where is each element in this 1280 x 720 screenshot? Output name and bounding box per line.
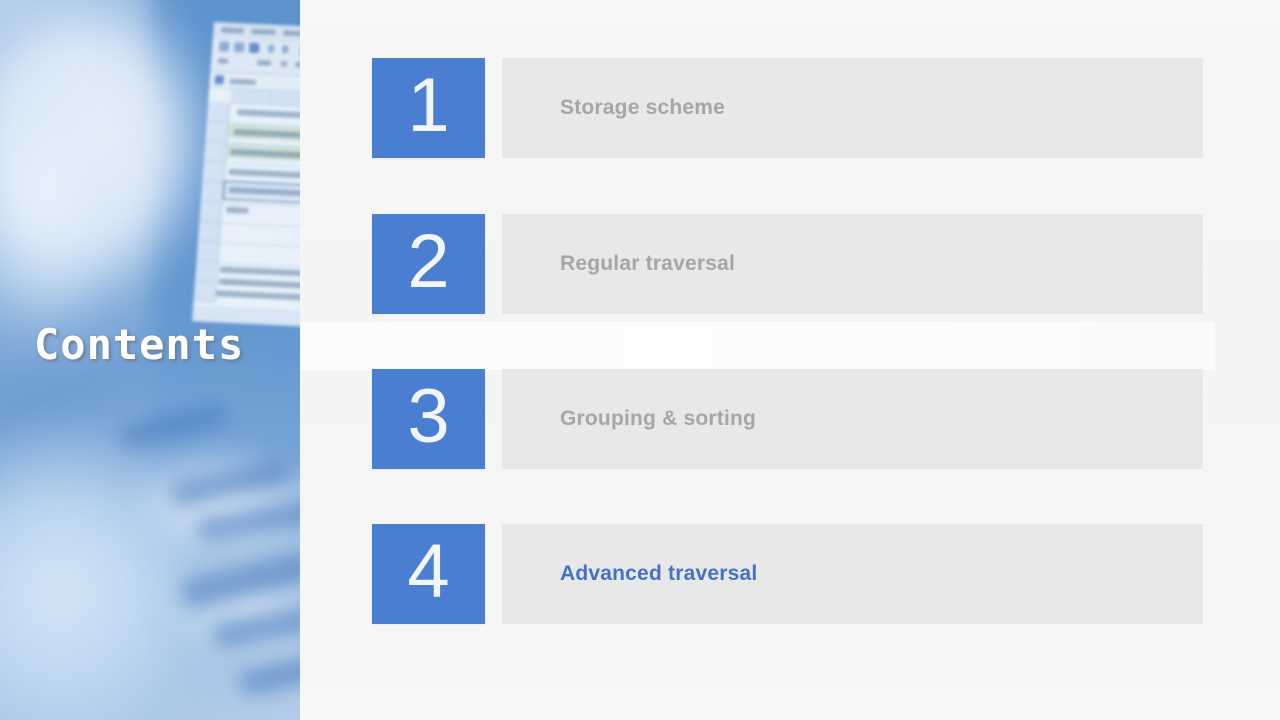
agenda-item-4-label: Advanced traversal — [560, 562, 757, 586]
agenda-item-2-label: Regular traversal — [560, 252, 735, 276]
agenda-item-3-label: Grouping & sorting — [560, 407, 756, 431]
agenda-item-4-number-box: 4 — [372, 524, 485, 624]
agenda-item-1-label: Storage scheme — [560, 96, 725, 120]
agenda-item-3-number-box: 3 — [372, 369, 485, 469]
agenda-item-2-number: 2 — [407, 224, 449, 300]
agenda-item-1-number: 1 — [407, 68, 449, 144]
agenda-item-3-bar[interactable]: Grouping & sorting — [502, 369, 1203, 469]
agenda-item-4-number: 4 — [407, 534, 449, 610]
agenda-item-2-bar[interactable]: Regular traversal — [502, 214, 1203, 314]
agenda-list: 1 Storage scheme 2 Regular traversal 3 G… — [0, 0, 1280, 720]
agenda-item-1-bar[interactable]: Storage scheme — [502, 58, 1203, 158]
agenda-item-2-number-box: 2 — [372, 214, 485, 314]
agenda-item-1-number-box: 1 — [372, 58, 485, 158]
agenda-item-3-number: 3 — [407, 379, 449, 455]
agenda-item-4-bar[interactable]: Advanced traversal — [502, 524, 1203, 624]
slide-canvas: Contents 1 Storage scheme 2 Regular trav… — [0, 0, 1280, 720]
